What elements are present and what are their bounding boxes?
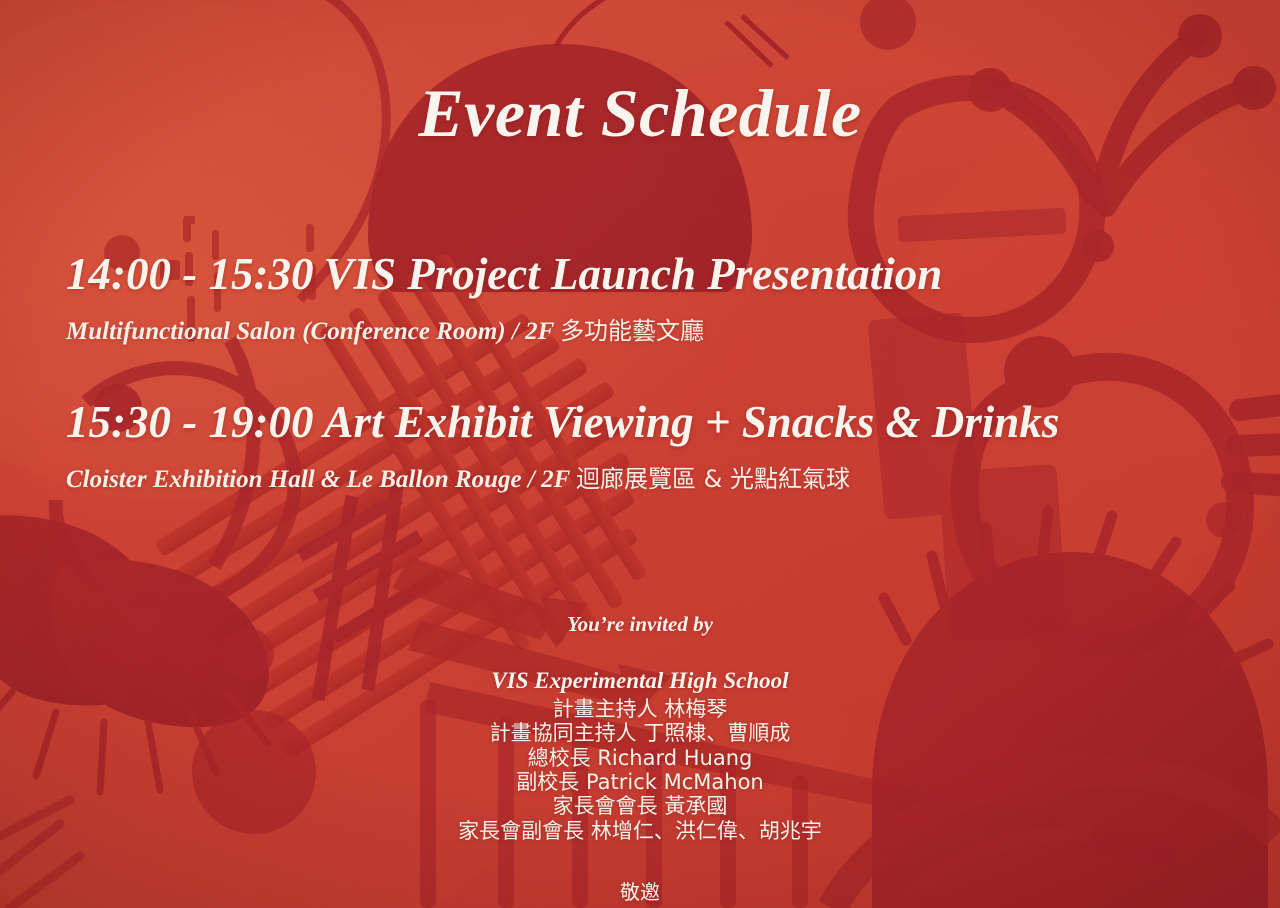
invitation-host: 計畫主持人 林梅琴 <box>0 697 1280 721</box>
schedule-entry-venue-en: Multifunctional Salon (Conference Room) … <box>66 318 560 345</box>
poster-content: Event Schedule 14:00 - 15:30VIS Project … <box>0 0 1280 908</box>
invitation-host: 總校長 Richard Huang <box>0 746 1280 770</box>
schedule-entry-heading: 14:00 - 15:30VIS Project Launch Presenta… <box>66 248 1240 300</box>
schedule-entry-venue: Cloister Exhibition Hall & Le Ballon Rou… <box>66 459 1240 494</box>
schedule-entry-heading: 15:30 - 19:00Art Exhibit Viewing + Snack… <box>66 396 1240 448</box>
invitation-host: 家長會會長 黃承國 <box>0 794 1280 818</box>
invitation-host-list: 計畫主持人 林梅琴 計畫協同主持人 丁照棣、曹順成 總校長 Richard Hu… <box>0 697 1280 843</box>
invitation-block: You’re invited by VIS Experimental High … <box>0 612 1280 905</box>
invitation-lead: You’re invited by <box>0 612 1280 637</box>
schedule-entry-venue-zh: 多功能藝文廳 <box>560 317 704 345</box>
schedule-entry-venue-en: Cloister Exhibition Hall & Le Ballon Rou… <box>66 466 576 493</box>
event-schedule-poster: Event Schedule 14:00 - 15:30VIS Project … <box>0 0 1280 908</box>
schedule-entry-venue-zh: 迴廊展覽區 & 光點紅氣球 <box>576 465 850 493</box>
invitation-organization: VIS Experimental High School <box>0 668 1280 694</box>
schedule-entry: 14:00 - 15:30VIS Project Launch Presenta… <box>66 248 1240 346</box>
schedule-entry: 15:30 - 19:00Art Exhibit Viewing + Snack… <box>66 396 1240 494</box>
schedule-list: 14:00 - 15:30VIS Project Launch Presenta… <box>66 248 1240 544</box>
invitation-host: 副校長 Patrick McMahon <box>0 770 1280 794</box>
schedule-entry-time: 15:30 - 19:00 <box>66 397 313 447</box>
invitation-host: 計畫協同主持人 丁照棣、曹順成 <box>0 721 1280 745</box>
schedule-entry-title: VIS Project Launch Presentation <box>323 249 942 299</box>
schedule-entry-time: 14:00 - 15:30 <box>66 249 313 299</box>
page-title: Event Schedule <box>0 74 1280 153</box>
schedule-entry-title: Art Exhibit Viewing + Snacks & Drinks <box>323 397 1059 447</box>
invitation-host: 家長會副會長 林增仁、洪仁偉、胡兆宇 <box>0 819 1280 843</box>
schedule-entry-venue: Multifunctional Salon (Conference Room) … <box>66 311 1240 346</box>
invitation-closing: 敬邀 <box>0 876 1280 905</box>
